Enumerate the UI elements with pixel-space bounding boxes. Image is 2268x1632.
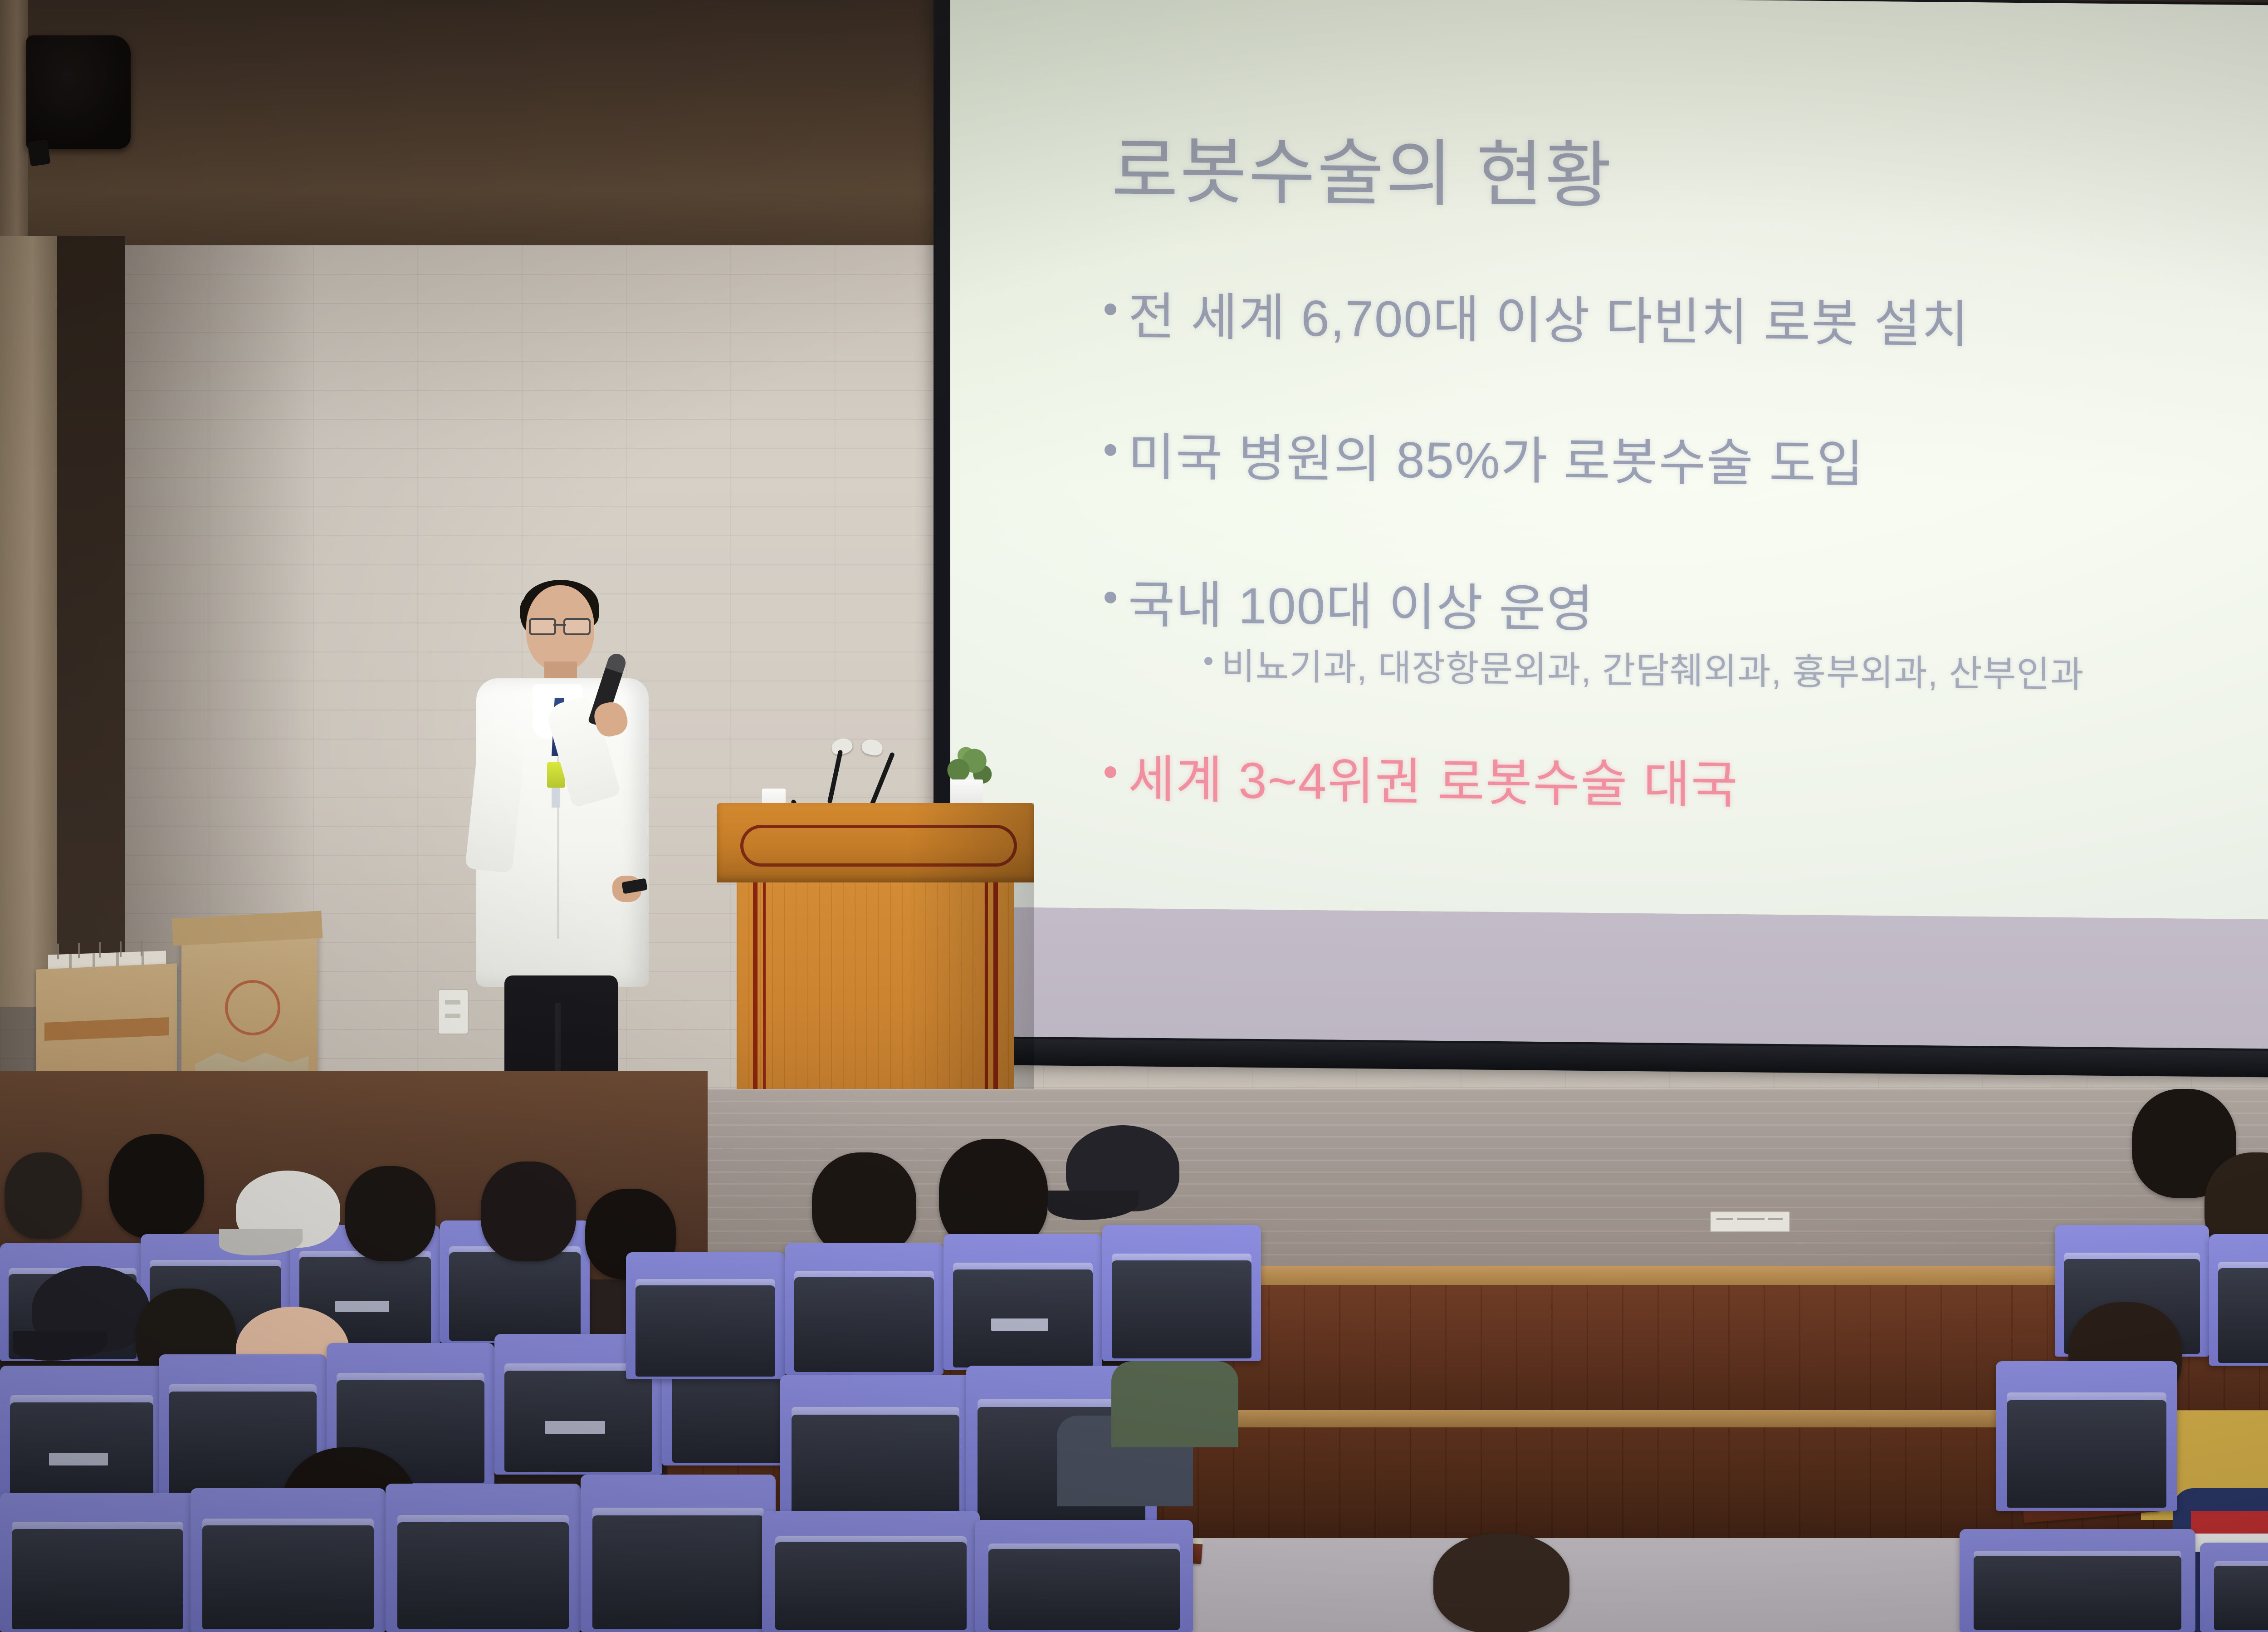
floor-vent-icon <box>1710 1211 1790 1232</box>
seat <box>159 1354 327 1497</box>
slide-bullet-3-text: 국내 100대 이상 운영 <box>1128 564 1594 642</box>
bullet-dot-icon <box>1105 444 1116 456</box>
bullet-dot-icon <box>1105 766 1116 778</box>
seat <box>191 1488 386 1632</box>
seat <box>386 1484 581 1632</box>
aisle-floor <box>626 1538 2268 1632</box>
seat <box>494 1334 662 1475</box>
slide-bullet-3: 국내 100대 이상 운영 <box>1105 564 1594 642</box>
slide-content: 로봇수술의 현황 전 세계 6,700대 이상 다빈치 로봇 설치 미국 병원의… <box>950 0 2268 922</box>
slide-subbullet-1: 비뇨기과, 대장항문외과, 간담췌외과, 흉부외과, 산부인과 <box>1204 637 2084 698</box>
stage-trim-lower <box>667 1410 2268 1428</box>
slide-bullet-2-text: 미국 병원의 85%가 로봇수술 도입 <box>1128 416 1864 497</box>
slide-title: 로봇수술의 현황 <box>1111 112 1613 222</box>
ceiling-pillar <box>0 0 28 254</box>
door-jamb <box>0 236 59 1007</box>
glasses-icon <box>529 618 591 632</box>
auditorium-photo: 로봇수술의 현황 전 세계 6,700대 이상 다빈치 로봇 설치 미국 병원의… <box>0 0 2268 1632</box>
doorway <box>57 236 125 998</box>
seat <box>327 1343 494 1486</box>
audience-head <box>136 1289 236 1388</box>
slide-bullet-4-highlight: 세계 3~4위권 로봇수술 대국 <box>1105 738 1739 818</box>
slide-bullet-4-text: 세계 3~4위권 로봇수술 대국 <box>1128 738 1739 818</box>
podium-top <box>717 803 1034 882</box>
stage-front-panel-upper <box>667 1285 2268 1413</box>
bullet-dot-icon <box>1105 304 1116 315</box>
sub-bullet-dot-icon <box>1204 657 1212 665</box>
seat <box>0 1493 195 1632</box>
stage-floor-left <box>0 1071 708 1279</box>
slide-bullet-1: 전 세계 6,700대 이상 다빈치 로봇 설치 <box>1105 275 1970 357</box>
bullet-dot-icon <box>1105 592 1116 603</box>
projection-screen: 로봇수술의 현황 전 세계 6,700대 이상 다빈치 로봇 설치 미국 병원의… <box>950 0 2268 1051</box>
stage-trim-upper <box>667 1266 2268 1286</box>
seat <box>0 1366 163 1506</box>
ceiling-speaker-icon <box>26 35 131 149</box>
audience-cap <box>236 1307 349 1393</box>
slide-bullet-2: 미국 병원의 85%가 로봇수술 도입 <box>1105 416 1864 497</box>
box-seal-icon <box>225 980 280 1035</box>
screen-unlit-area <box>950 907 2268 1051</box>
slide-subbullet-1-text: 비뇨기과, 대장항문외과, 간담췌외과, 흉부외과, 산부인과 <box>1222 637 2084 698</box>
audience-head <box>281 1447 417 1574</box>
projected-slide: 로봇수술의 현황 전 세계 6,700대 이상 다빈치 로봇 설치 미국 병원의… <box>950 0 2268 922</box>
slide-bullet-1-text: 전 세계 6,700대 이상 다빈치 로봇 설치 <box>1128 275 1970 357</box>
stage-front-panel-lower <box>667 1427 2268 1541</box>
